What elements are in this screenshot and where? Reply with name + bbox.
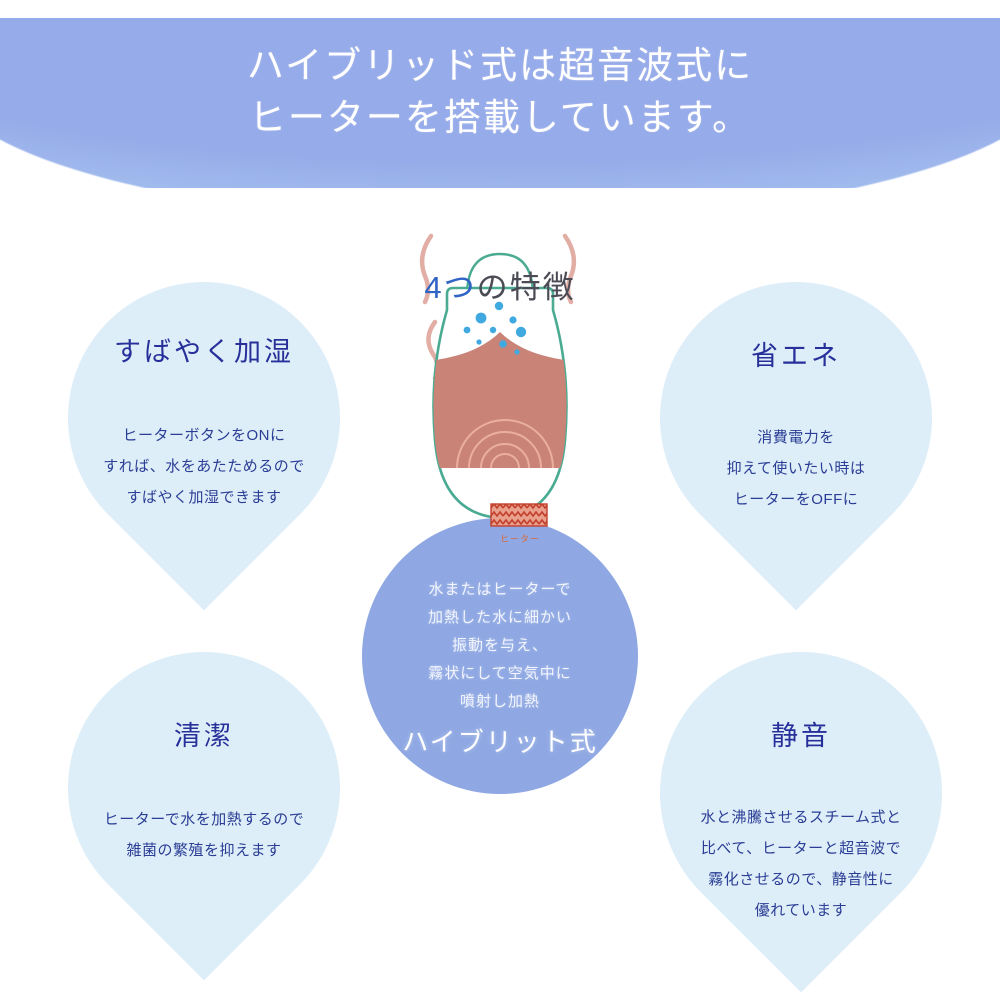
feature-count-badge: 4つの特徴 (395, 262, 605, 307)
feature-title: 静音 (660, 714, 942, 753)
feature-body: 消費電力を 抑えて使いたい時は ヒーターをOFFに (660, 422, 932, 515)
heater-caption: ヒーター (470, 532, 570, 545)
feature-body: ヒーターで水を加熱するので 雑菌の繁殖を抑えます (68, 804, 340, 866)
feature-title: 省エネ (660, 334, 932, 373)
feature-droplet-quiet: 静音 水と沸騰させるスチーム式と 比べて、ヒーターと超音波で 霧化させるので、静… (660, 652, 942, 934)
droplet-content: すばやく加湿 ヒーターボタンをONに すれば、水をあたためるので すばやく加湿で… (68, 282, 340, 554)
feature-droplet-energy-saving: 省エネ 消費電力を 抑えて使いたい時は ヒーターをOFFに (660, 282, 932, 554)
heater-element (491, 504, 547, 526)
droplet-content: 清潔 ヒーターで水を加熱するので 雑菌の繁殖を抑えます (68, 652, 340, 924)
feature-droplet-quick-humidify: すばやく加湿 ヒーターボタンをONに すれば、水をあたためるので すばやく加湿で… (68, 282, 340, 554)
feature-body: ヒーターボタンをONに すれば、水をあたためるので すばやく加湿できます (68, 420, 340, 513)
feature-title: 清潔 (68, 714, 340, 753)
feature-droplet-clean: 清潔 ヒーターで水を加熱するので 雑菌の繁殖を抑えます (68, 652, 340, 924)
header-title: ハイブリッド式は超音波式に ヒーターを搭載しています。 (0, 40, 1000, 144)
hub-title: ハイブリット式 (362, 722, 638, 759)
infographic-canvas: ハイブリッド式は超音波式に ヒーターを搭載しています。 すばやく加湿 ヒーターボ… (0, 0, 1000, 1000)
feature-count-number: 4つ (424, 270, 476, 305)
droplet-content: 省エネ 消費電力を 抑えて使いたい時は ヒーターをOFFに (660, 282, 932, 554)
feature-count-text: の特徴 (477, 270, 576, 305)
feature-title: すばやく加湿 (68, 330, 340, 369)
hub-description: 水またはヒーターで 加熱した水に細かい 振動を与え、 霧状にして空気中に 噴射し… (362, 576, 638, 716)
feature-body: 水と沸騰させるスチーム式と 比べて、ヒーターと超音波で 霧化させるので、静音性に… (660, 802, 942, 926)
droplet-content: 静音 水と沸騰させるスチーム式と 比べて、ヒーターと超音波で 霧化させるので、静… (660, 652, 942, 934)
